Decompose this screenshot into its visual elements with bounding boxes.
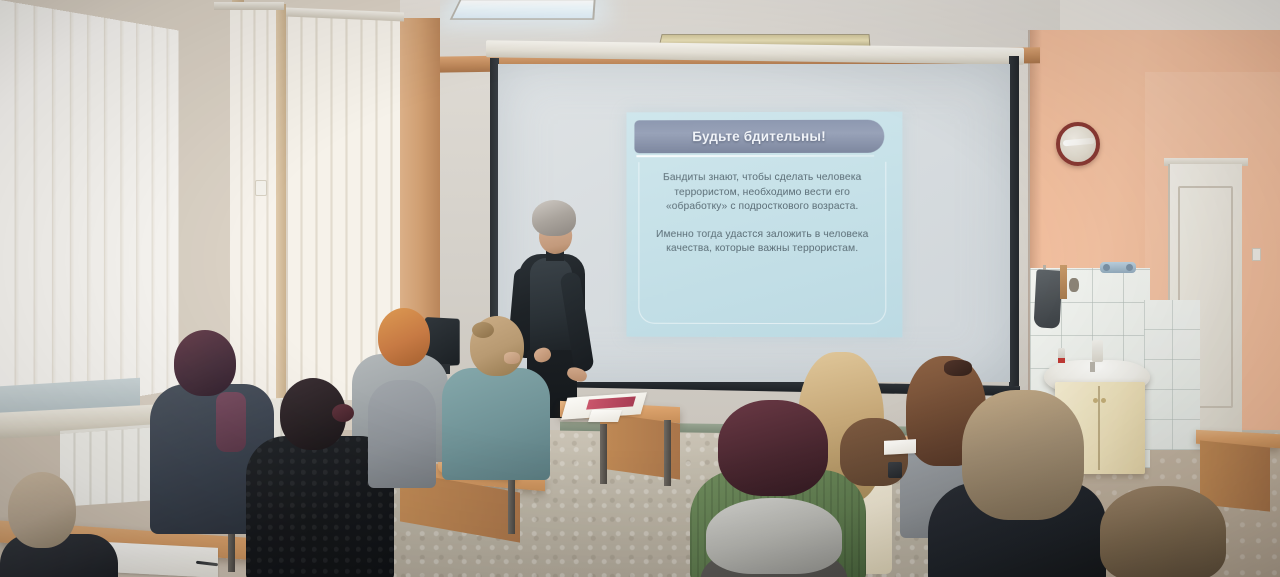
wall-wood-strip (1060, 265, 1067, 299)
wall-clock-icon (1056, 122, 1100, 166)
slide-body: Бандиты знают, чтобы сделать человека те… (638, 162, 886, 324)
desk-leg-1 (664, 420, 671, 486)
attendee-gray-top-right (368, 366, 438, 486)
attendee-hair (378, 308, 430, 366)
attendee-hair (718, 400, 828, 496)
desk-leg-2 (600, 424, 607, 484)
attendee-sleeve (216, 392, 246, 452)
attendee-body (442, 368, 550, 480)
paper-sheet-right[interactable] (884, 439, 916, 455)
attendee-hair (706, 498, 842, 574)
attendee-dark-top-right-foreground (928, 390, 1108, 577)
window-frame-mullion-2 (276, 4, 286, 416)
attendee-hair (1100, 486, 1226, 577)
attendee-teal-sweater (442, 316, 552, 476)
attendee-far-right-foreground (1100, 486, 1230, 577)
attendee-hair (174, 330, 236, 396)
wall-tiles-recess (1144, 300, 1200, 450)
attendee-front-left-foreground (0, 472, 120, 577)
paper-sheet[interactable] (588, 410, 622, 422)
attendee-gray-hair-foreground (700, 498, 850, 577)
wall-switch[interactable] (255, 180, 267, 196)
attendee-hair (8, 472, 76, 548)
slide-paragraph-2: Именно тогда удастся заложить в человека… (649, 228, 875, 257)
chair-leg-mid (508, 474, 515, 534)
soap-dish-holder (1100, 262, 1136, 273)
slide-title-underline (636, 155, 874, 157)
soap-dispenser[interactable] (1092, 340, 1103, 362)
slide-title-bar: Будьте бдительны! (634, 120, 884, 154)
wall-plate (1069, 278, 1079, 292)
attendee-body (368, 380, 436, 488)
presentation-slide: Будьте бдительны! Бандиты знают, чтобы с… (626, 112, 902, 338)
attendee-face (504, 352, 520, 364)
attendee-hair-bun (472, 322, 494, 338)
attendee-hair-clip (944, 360, 972, 376)
screen-edge-right (1009, 56, 1019, 386)
classroom-photo-scene: Будьте бдительны! Бандиты знают, чтобы с… (0, 0, 1280, 577)
soap-bottle-label (1058, 358, 1065, 363)
attendee-hair (962, 390, 1084, 520)
light-switch[interactable] (1252, 248, 1261, 261)
hanging-towel (1034, 269, 1063, 328)
notebook-page[interactable] (108, 542, 218, 577)
faucet-icon[interactable] (1090, 362, 1095, 372)
attendee-hair-tie (332, 404, 354, 422)
phone-on-desk[interactable] (888, 462, 902, 478)
slide-title: Будьте бдительны! (692, 129, 826, 144)
clock-glass-glare (1063, 138, 1095, 147)
blind-rail-left[interactable] (214, 2, 284, 10)
slide-paragraph-1: Бандиты знают, чтобы сделать человека те… (649, 171, 875, 215)
ceiling-light-panel-icon (450, 0, 596, 20)
presenter-hair (532, 200, 576, 236)
